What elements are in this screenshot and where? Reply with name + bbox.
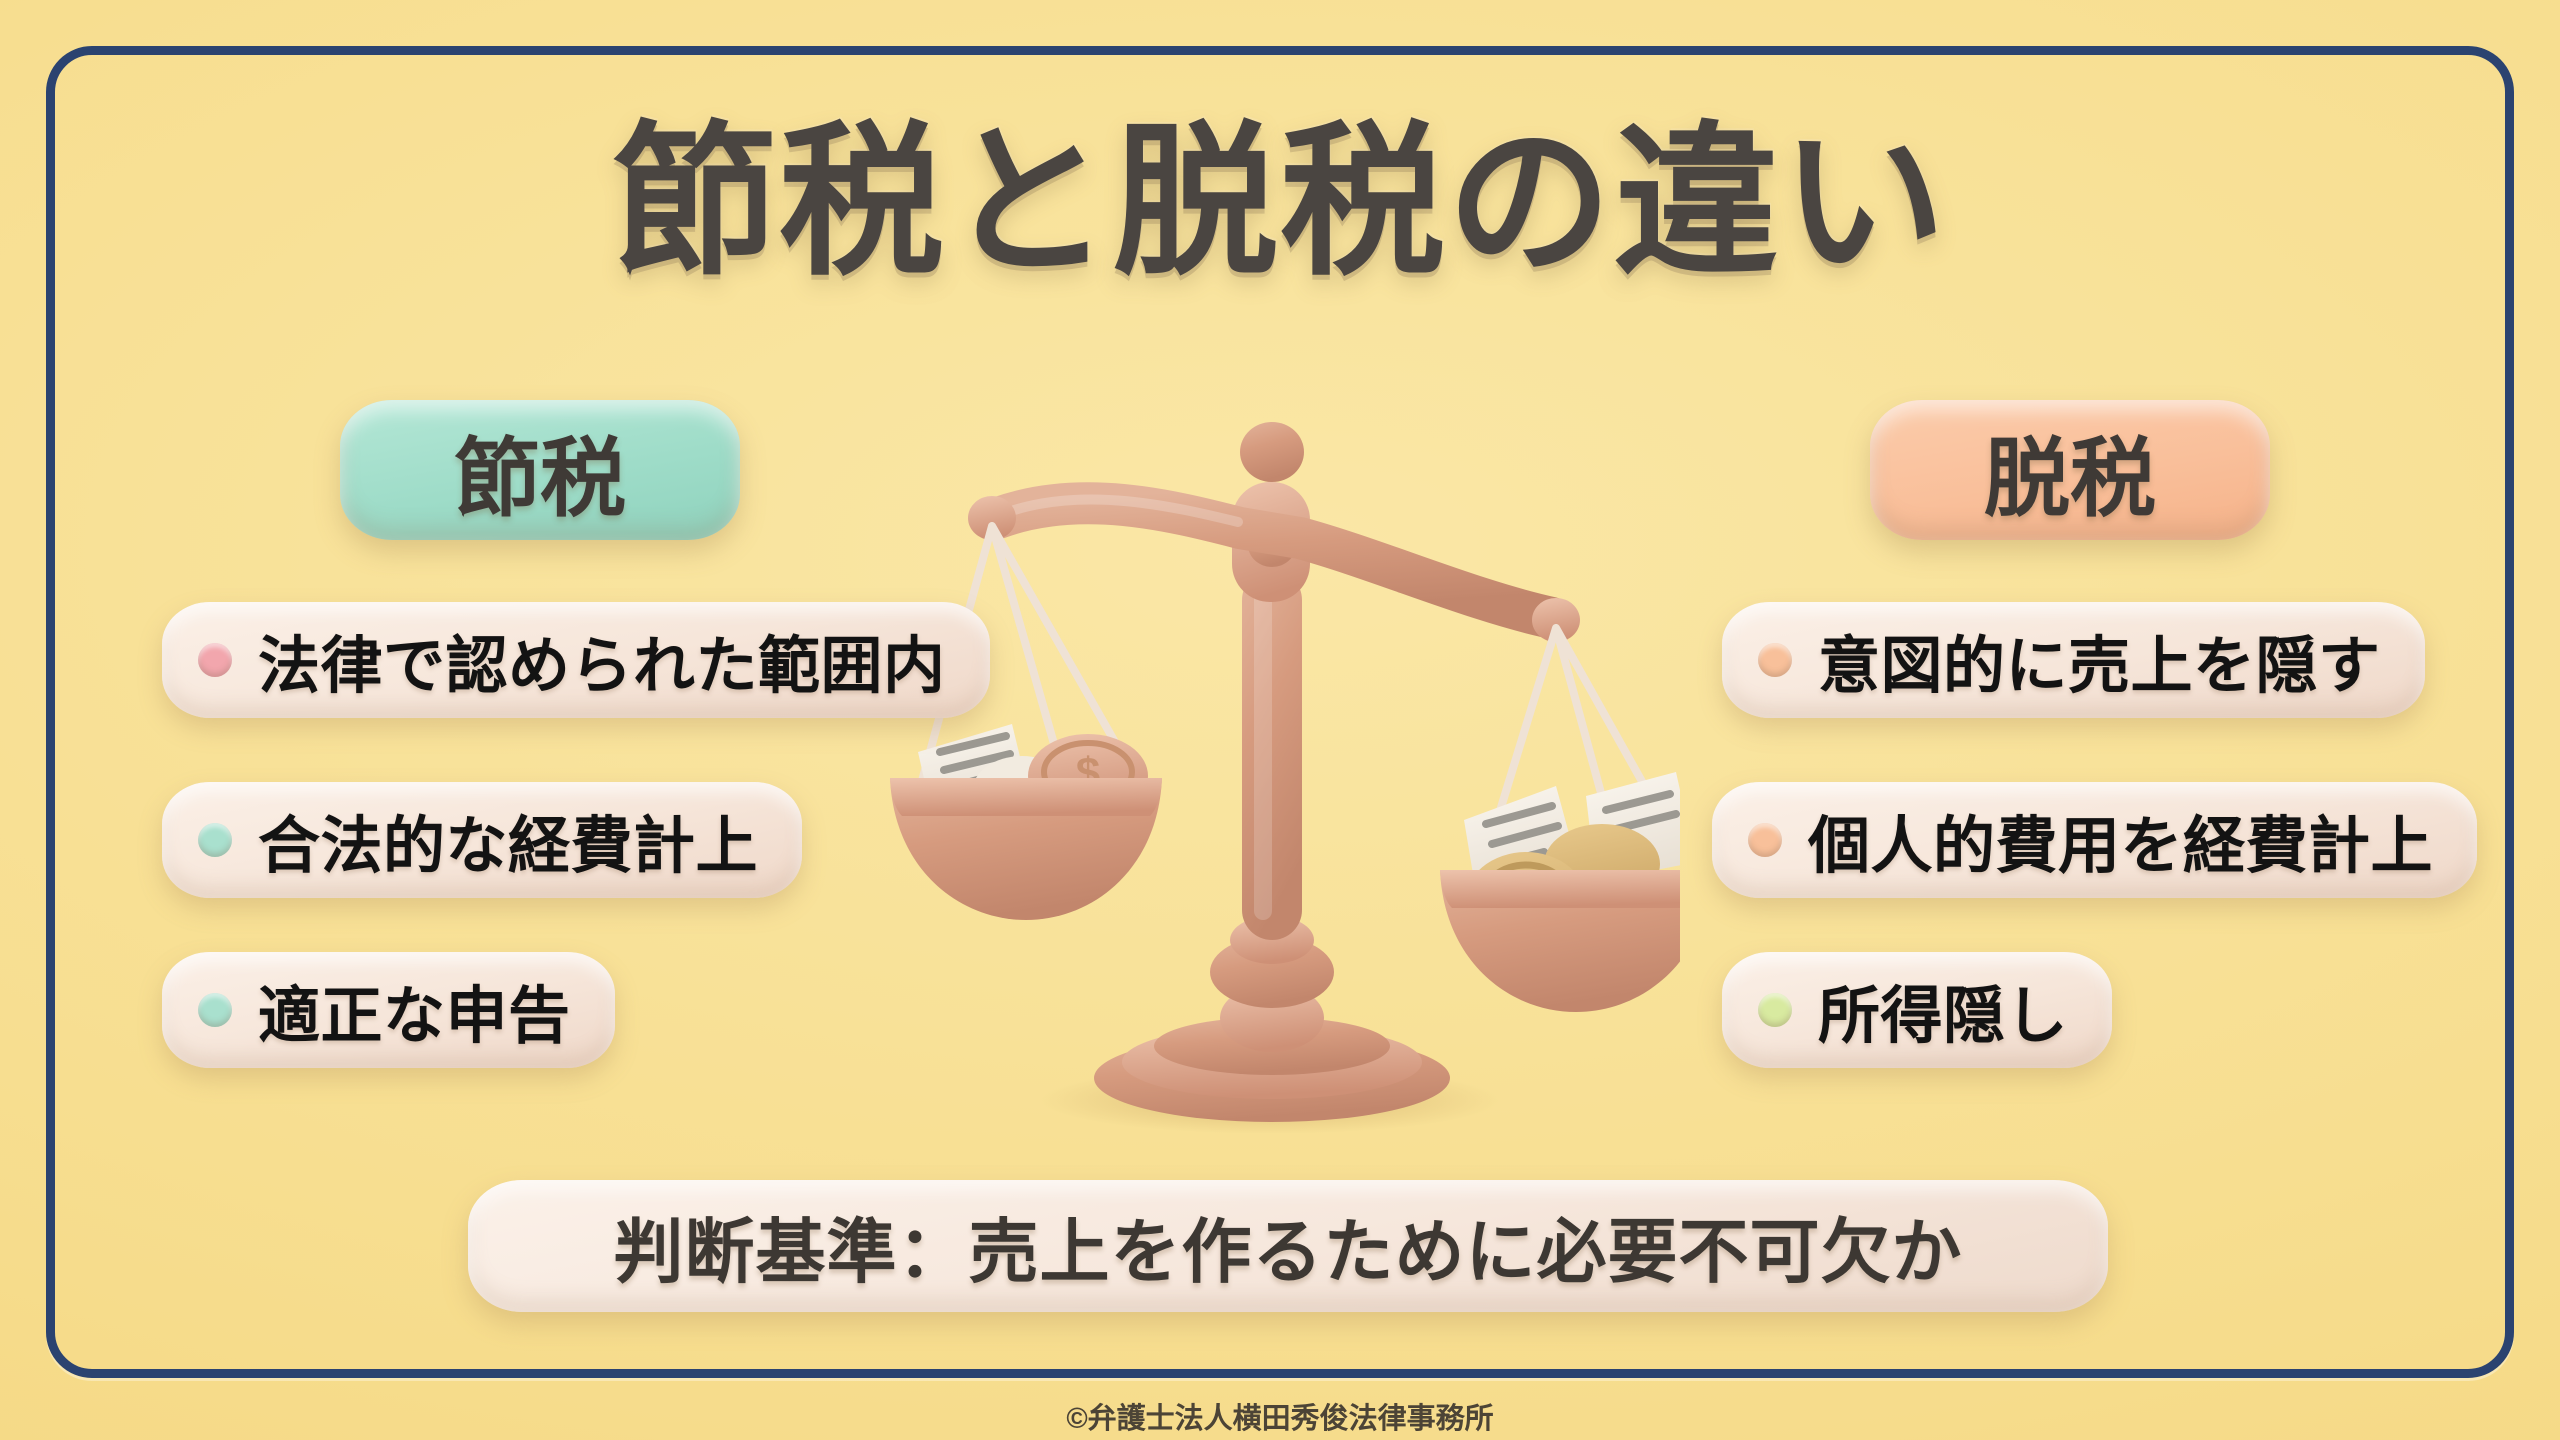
list-item-label: 適正な申告 xyxy=(258,965,571,1055)
list-item: 適正な申告 xyxy=(162,952,615,1068)
list-item-label: 意図的に売上を隠す xyxy=(1818,615,2381,705)
bullet-dot xyxy=(198,823,232,857)
list-item-label: 合法的な経費計上 xyxy=(258,795,758,885)
bullet-dot xyxy=(1758,643,1792,677)
list-item-label: 所得隠し xyxy=(1818,965,2068,1055)
badge-tax-saving-label: 節税 xyxy=(454,408,626,533)
page-title: 節税と脱税の違い xyxy=(612,120,1948,285)
scale-column xyxy=(1210,570,1334,1052)
bullet-dot xyxy=(1758,993,1792,1027)
list-item: 法律で認められた範囲内 xyxy=(162,602,990,718)
bullet-dot xyxy=(198,993,232,1027)
badge-tax-saving: 節税 xyxy=(340,400,740,540)
right-pan: $ xyxy=(1440,628,1680,1012)
criteria-banner-label: 判断基準：売上を作るために必要不可欠か xyxy=(614,1196,1963,1297)
page-title-container: 節税と脱税の違い xyxy=(0,120,2560,285)
criteria-banner: 判断基準：売上を作るために必要不可欠か xyxy=(468,1180,2108,1312)
list-item: 合法的な経費計上 xyxy=(162,782,802,898)
list-item: 意図的に売上を隠す xyxy=(1722,602,2425,718)
bullet-dot xyxy=(1748,823,1782,857)
list-item-label: 法律で認められた範囲内 xyxy=(258,615,946,705)
left-pan: $ xyxy=(890,526,1162,920)
badge-tax-evasion: 脱税 xyxy=(1870,400,2270,540)
list-item-label: 個人的費用を経費計上 xyxy=(1808,795,2433,885)
list-item: 所得隠し xyxy=(1722,952,2112,1068)
badge-tax-evasion-label: 脱税 xyxy=(1984,408,2156,533)
bullet-dot xyxy=(198,643,232,677)
list-item: 個人的費用を経費計上 xyxy=(1712,782,2477,898)
balance-scale-illustration: $ xyxy=(880,400,1680,1140)
copyright-credit: ©弁護士法人横田秀俊法律事務所 xyxy=(0,1395,2560,1437)
infographic-canvas: 節税と脱税の違い xyxy=(0,0,2560,1440)
